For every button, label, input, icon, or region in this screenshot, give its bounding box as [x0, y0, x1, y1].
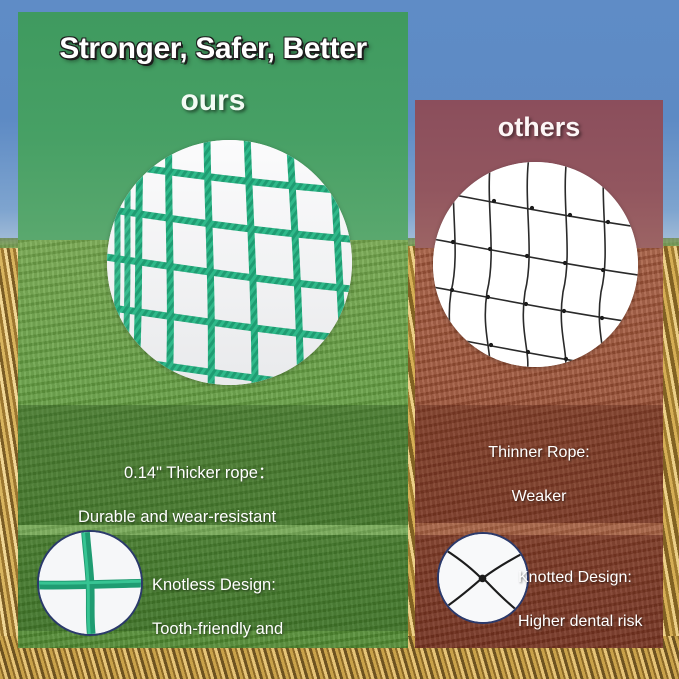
ours-label: ours — [18, 84, 408, 118]
infographic-canvas: Stronger, Safer, Better ours — [0, 0, 679, 679]
knotless-cross-junction-icon — [39, 532, 141, 634]
others-feature-rope-line2: Weaker — [415, 486, 663, 508]
ours-feature-rope-line1: 0.14" Thicker rope： — [78, 462, 398, 484]
knot-center-marker — [479, 575, 487, 583]
knotless-junction-icon-circle — [37, 530, 143, 636]
others-net-closeup-circle — [433, 162, 638, 367]
headline-tagline: Stronger, Safer, Better — [18, 32, 408, 66]
others-feature-knot-text: Knotted Design: Higher dental risk — [518, 545, 663, 648]
ours-feature-knot-line2: Tooth-friendly and — [152, 618, 402, 640]
ours-net-closeup-circle — [107, 140, 352, 385]
others-feature-knot-line1: Knotted Design: — [518, 567, 663, 589]
others-feature-knot-line2: Higher dental risk — [518, 611, 663, 633]
ours-feature-rope-text: 0.14" Thicker rope： Durable and wear-res… — [78, 440, 398, 550]
others-label: others — [415, 112, 663, 143]
others-feature-rope-line1: Thinner Rope: — [415, 442, 663, 464]
thick-green-knotless-net-graphic — [107, 140, 352, 385]
others-feature-rope-text: Thinner Rope: Weaker — [415, 420, 663, 530]
ours-feature-knot-line1: Knotless Design: — [152, 574, 402, 596]
ours-panel: Stronger, Safer, Better ours — [18, 12, 408, 648]
knotted-junction-icon-circle — [437, 532, 529, 624]
thin-dark-knotted-net-graphic — [433, 162, 638, 367]
others-panel: others — [415, 100, 663, 648]
knotted-x-junction-icon — [439, 534, 527, 622]
ours-feature-rope-line2: Durable and wear-resistant — [78, 506, 398, 528]
ours-feature-knot-text: Knotless Design: Tooth-friendly and prom… — [152, 552, 402, 648]
